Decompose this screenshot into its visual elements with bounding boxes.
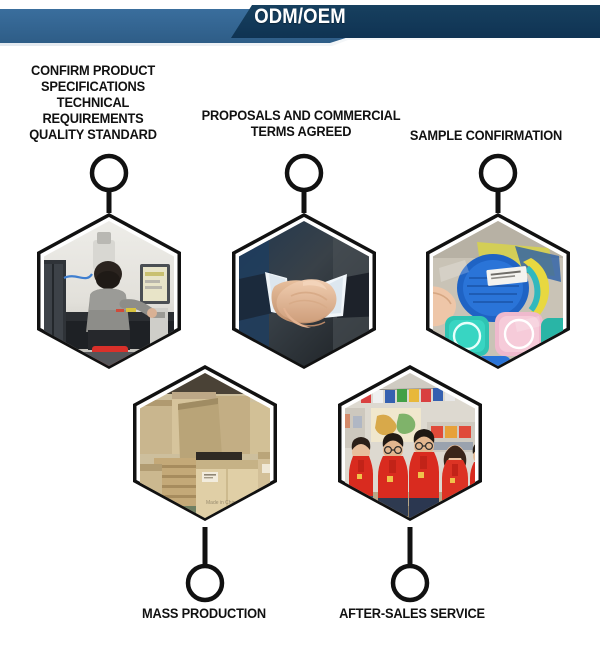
connector-node-5 — [393, 566, 427, 600]
step-image-2 — [225, 212, 383, 375]
hex-photo-5 — [331, 364, 489, 527]
process-diagram: CONFIRM PRODUCT SPECIFICATIONS TECHNICAL… — [0, 0, 600, 652]
connector-node-3 — [481, 156, 515, 190]
step-image-1 — [30, 212, 188, 375]
step-image-4: Made in China — [126, 364, 284, 527]
hex-photo-2 — [225, 212, 383, 375]
hex-photo-1 — [30, 212, 188, 375]
step-image-5 — [331, 364, 489, 527]
step-image-3 — [419, 212, 577, 375]
step-label-4: MASS PRODUCTION — [120, 606, 287, 622]
hex-photo-3 — [419, 212, 577, 376]
connector-node-4 — [188, 566, 222, 600]
step-label-5: AFTER-SALES SERVICE — [327, 606, 498, 622]
step-label-3: SAMPLE CONFIRMATION — [393, 128, 579, 144]
step-label-1: CONFIRM PRODUCT SPECIFICATIONS TECHNICAL… — [7, 63, 180, 143]
hex-photo-4: Made in China — [126, 364, 284, 527]
connector-node-1 — [92, 156, 126, 190]
step-label-2: PROPOSALS AND COMMERCIAL TERMS AGREED — [190, 108, 412, 140]
connector-node-2 — [287, 156, 321, 190]
